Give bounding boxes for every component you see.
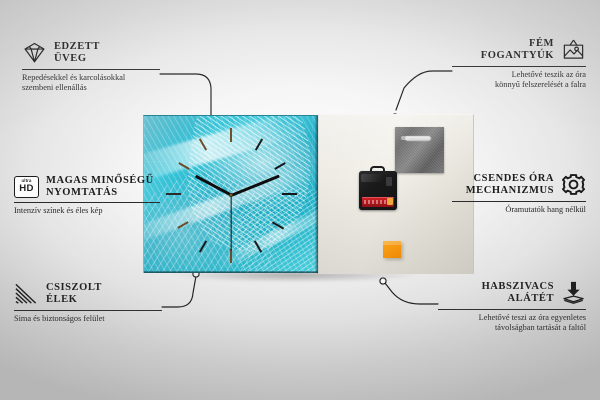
- clock-tick: [177, 221, 188, 229]
- clock-tick: [199, 240, 207, 252]
- hanger-texture: [395, 127, 444, 173]
- callout-desc-line: szembeni ellenállás: [22, 83, 162, 93]
- callout-divider: [452, 66, 586, 67]
- clock-tick: [254, 240, 262, 252]
- callout-desc-line: Repedésekkel és karcolásokkal: [22, 73, 162, 83]
- glass-right-edge: [315, 116, 318, 273]
- callout-divider: [14, 310, 162, 311]
- callout-desc-line: Lehetővé teszi az óra egyenletes: [438, 313, 586, 323]
- battery-plus-terminal: [387, 198, 393, 205]
- callout-divider: [438, 309, 586, 310]
- callout-high-quality-print: ultra HD MAGAS MINŐSÉGŰ NYOMTATÁS Intenz…: [14, 175, 162, 216]
- ultra-hd-icon: ultra HD: [14, 176, 39, 198]
- callout-tempered-glass: EDZETT ÜVEG Repedésekkel és karcolásokka…: [22, 40, 162, 93]
- battery: [362, 197, 394, 207]
- clock-tick: [255, 138, 263, 150]
- clock-mechanism: [359, 171, 397, 210]
- gear-icon: [561, 172, 586, 197]
- callout-header: FÉM FOGANTYÚK: [452, 37, 586, 62]
- clock-tick: [230, 249, 232, 263]
- callout-title: CSENDES ÓRA MECHANIZMUS: [466, 173, 554, 196]
- callout-divider: [14, 202, 160, 203]
- callout-header: ultra HD MAGAS MINŐSÉGŰ NYOMTATÁS: [14, 175, 162, 198]
- callout-title: HABSZIVACS ALÁTÉT: [482, 281, 554, 304]
- foam-pad-top: [383, 241, 401, 245]
- callout-metal-handles: FÉM FOGANTYÚK Lehetővé teszik az óra kön…: [452, 37, 586, 90]
- clock-tick: [199, 138, 207, 150]
- foam-pad: [383, 241, 401, 258]
- clock-dial: [144, 116, 318, 273]
- product-assembly: [143, 114, 474, 274]
- callout-title: EDZETT ÜVEG: [54, 41, 100, 64]
- metal-hanger-plate: [395, 127, 444, 173]
- glass-bottom-edge: [144, 271, 318, 273]
- callout-desc-line: Sima és biztonságos felület: [14, 314, 164, 324]
- callout-desc-line: Óramutatók hang nélkül: [452, 205, 586, 215]
- clock-tick: [166, 193, 181, 195]
- callout-header: CSISZOLT ÉLEK: [14, 281, 164, 306]
- product-shadow: [151, 272, 471, 288]
- clock-hour-hand: [195, 175, 232, 197]
- clock-back-panel: [317, 114, 474, 274]
- clock-minute-hand: [230, 174, 279, 196]
- callout-header: HABSZIVACS ALÁTÉT: [438, 280, 586, 305]
- picture-hanger-icon: [561, 37, 586, 62]
- mechanism-sheen: [361, 174, 383, 182]
- clock-center-pin: [229, 193, 233, 197]
- callout-title: MAGAS MINŐSÉGŰ NYOMTATÁS: [46, 175, 154, 198]
- callout-divider: [452, 201, 586, 202]
- callout-title: FÉM FOGANTYÚK: [481, 38, 554, 61]
- callout-header: CSENDES ÓRA MECHANIZMUS: [452, 172, 586, 197]
- wire-metal-handles: [396, 71, 452, 110]
- callout-desc-line: könnyű felszerelését a falra: [452, 80, 586, 90]
- ultra-hd-large-label: HD: [19, 184, 33, 194]
- clock-tick: [282, 193, 297, 195]
- battery-label-text: [364, 200, 386, 204]
- polished-edges-icon: [14, 281, 39, 306]
- clock-tick: [178, 162, 189, 170]
- callout-header: EDZETT ÜVEG: [22, 40, 162, 65]
- mechanism-knob: [386, 177, 392, 186]
- callout-silent-mechanism: CSENDES ÓRA MECHANIZMUS Óramutatók hang …: [452, 172, 586, 215]
- clock-tick: [274, 162, 285, 170]
- clock-tick: [230, 128, 232, 142]
- clock-front-panel: [143, 115, 318, 273]
- foam-pad-arrow-icon: [561, 280, 586, 305]
- hanger-slot-highlight: [401, 136, 409, 140]
- callout-title: CSISZOLT ÉLEK: [46, 282, 102, 305]
- callout-foam-backing: HABSZIVACS ALÁTÉT Lehetővé teszi az óra …: [438, 280, 586, 333]
- callout-desc-line: Intenzív színek és éles kép: [14, 206, 162, 216]
- diamond-icon: [22, 40, 47, 65]
- clock-tick: [272, 221, 284, 229]
- callout-polished-edges: CSISZOLT ÉLEK Sima és biztonságos felüle…: [14, 281, 164, 324]
- callout-divider: [22, 69, 160, 70]
- callout-desc-line: Lehetővé teszik az óra: [452, 70, 586, 80]
- infographic-canvas: EDZETT ÜVEG Repedésekkel és karcolásokka…: [0, 0, 600, 400]
- callout-desc-line: távolságban tartását a faltól: [438, 323, 586, 333]
- clock-second-hand: [230, 195, 231, 251]
